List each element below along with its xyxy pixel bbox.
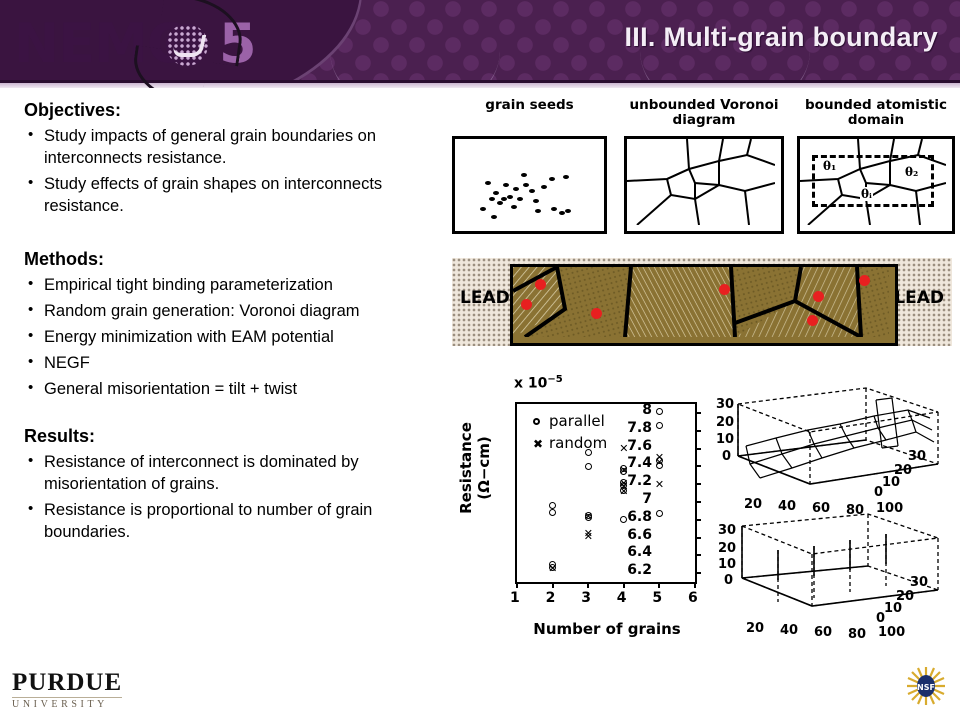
x-tick-60: 60: [814, 625, 832, 640]
x-tick: [658, 582, 660, 588]
y-tick: [695, 465, 701, 467]
purdue-university-text: UNIVERSITY: [12, 697, 122, 710]
nemo5-logo: NEMO 5: [14, 10, 284, 78]
spacer: [24, 404, 449, 426]
y-tick: [695, 572, 701, 574]
objectives-list: Study impacts of general grain boundarie…: [24, 125, 449, 217]
list-item: Resistance of interconnect is dominated …: [24, 451, 449, 495]
surface-plot-3d: 30 20 10 0 20 40 60 80 100 30 20 10 0: [716, 386, 956, 514]
y-axis-label: Resistance (Ω−cm): [457, 393, 493, 543]
grain-seed-point: [535, 209, 541, 213]
list-item: Resistance is proportional to number of …: [24, 499, 449, 543]
nsf-logo: NSF: [906, 666, 946, 706]
grain-seed-point: [503, 183, 509, 187]
plot-area: ✕✕✕✕✕✕✕✕✕✕✕✕parallel✖random: [515, 402, 697, 584]
y-tick-label: 6.8: [627, 511, 652, 523]
x-tick: [516, 582, 518, 588]
spacer: [24, 221, 449, 249]
z-tick-30: 30: [716, 397, 734, 412]
y-tick-label: 6.6: [627, 529, 652, 541]
y-tick-label: 6.4: [627, 546, 652, 558]
list-item: NEGF: [24, 352, 449, 374]
grain-seed-point: [489, 197, 495, 201]
panel-caption: unbounded Voronoi diagram: [624, 98, 784, 128]
grain-seed-point: [521, 173, 527, 177]
grain-seed-point: [523, 183, 529, 187]
purdue-logo: PURDUE UNIVERSITY: [12, 670, 122, 710]
legend-entry-random: ✖random: [533, 434, 607, 452]
slide-footer: PURDUE UNIVERSITY NSF: [0, 660, 960, 720]
resistance-scatter-chart: x 10−5 Resistance (Ω−cm) ✕✕✕✕✕✕✕✕✕✕✕✕par…: [452, 372, 720, 650]
x-tick-label: 5: [652, 590, 662, 606]
data-point-parallel: [549, 502, 556, 509]
voronoi-panel-group: grain seeds unbounded Voronoi diagram: [452, 98, 952, 243]
purdue-wordmark: PURDUE: [12, 670, 122, 696]
x-tick-20: 20: [744, 497, 762, 512]
y-tick: [695, 483, 701, 485]
grain-boundary-svg: [513, 267, 889, 337]
slide-header: NEMO 5 III. Multi-grain boundary: [0, 0, 960, 88]
x-tick-80: 80: [848, 627, 866, 640]
x-tick-label: 1: [510, 590, 520, 606]
y-tick: [695, 448, 701, 450]
x-tick-label: 6: [688, 590, 698, 606]
grain-seed-dot: [719, 284, 730, 295]
grain-seed-point: [507, 195, 513, 199]
grain-seed-dot: [535, 279, 546, 290]
z-tick-10: 10: [716, 432, 734, 447]
x-tick: [694, 582, 696, 588]
grain-seed-point: [559, 211, 565, 215]
z-tick-0: 0: [722, 449, 731, 464]
grain-seed-point: [513, 187, 519, 191]
interconnect-grain-strip: LEAD LEAD: [452, 258, 952, 346]
legend-marker-circle-icon: [533, 418, 540, 425]
x-tick-40: 40: [780, 623, 798, 638]
objectives-heading: Objectives:: [24, 100, 449, 121]
panel-caption: bounded atomistic domain: [797, 98, 955, 128]
nemo-atom-icon: [166, 24, 208, 66]
results-section: Results: Resistance of interconnect is d…: [24, 426, 449, 543]
grain-seed-dot: [521, 299, 532, 310]
y-tick-label: 7.2: [627, 475, 652, 487]
data-point-random: ✕: [655, 480, 664, 489]
grain-seed-dot: [807, 315, 818, 326]
x-tick-label: 2: [546, 590, 556, 606]
panel-caption: grain seeds: [452, 98, 607, 113]
x-tick-20: 20: [746, 621, 764, 636]
y-tick-label: 7: [642, 493, 652, 505]
lead-label-left: LEAD: [460, 288, 510, 308]
grain-seed-point: [529, 189, 535, 193]
y-tick-label: 7.4: [627, 457, 652, 469]
grain-seed-point: [480, 207, 486, 211]
grain-seed-point: [517, 197, 523, 201]
z-tick-20: 20: [716, 415, 734, 430]
wireframe-plot-svg: 30 20 10 0 20 40 60 80 100 30 20 10 0: [716, 512, 956, 640]
y-tick-label: 6.2: [627, 564, 652, 576]
unbounded-voronoi-figure: [624, 136, 784, 234]
x-tick: [552, 582, 554, 588]
grain-seed-point: [485, 181, 491, 185]
grain-seeds-figure: [452, 136, 607, 234]
y-tick: [695, 537, 701, 539]
z-tick-30: 30: [718, 523, 736, 538]
data-point-parallel: [656, 422, 663, 429]
y-tick: [695, 519, 701, 521]
list-item: Study impacts of general grain boundarie…: [24, 125, 449, 169]
legend-marker-cross-icon: ✖: [533, 437, 540, 451]
exponent-mantissa: x 10: [514, 376, 547, 392]
grain-seed-point: [541, 185, 547, 189]
grain-seed-point: [549, 177, 555, 181]
theta-label-2: θ₂: [904, 165, 919, 179]
theta-label-i: θᵢ: [860, 187, 873, 201]
data-point-parallel: [656, 408, 663, 415]
y-tick-30: 30: [908, 449, 926, 464]
grain-seed-dot: [591, 308, 602, 319]
panel-unbounded-voronoi: unbounded Voronoi diagram: [624, 98, 784, 128]
grain-seed-point: [563, 175, 569, 179]
x-axis-label: Number of grains: [502, 620, 712, 638]
wireframe-plot-3d: 30 20 10 0 20 40 60 80 100 30 20 10 0: [716, 512, 956, 640]
y-tick-10: 10: [884, 601, 902, 616]
axis-exponent-label: x 10−5: [514, 374, 563, 392]
content-left-column: Objectives: Study impacts of general gra…: [24, 100, 449, 547]
grain-seed-point: [565, 209, 571, 213]
grain-domain: [510, 264, 898, 346]
grain-seed-point: [501, 197, 507, 201]
y-tick: [695, 430, 701, 432]
y-tick-30: 30: [910, 575, 928, 590]
data-point-random: ✕: [584, 532, 593, 541]
page-title: III. Multi-grain boundary: [625, 22, 939, 53]
theta-label-1: θ₁: [822, 159, 837, 173]
y-tick-10: 10: [882, 475, 900, 490]
x-tick: [587, 582, 589, 588]
grain-seed-point: [551, 207, 557, 211]
y-tick-label: 7.6: [627, 440, 652, 452]
legend-label: parallel: [549, 412, 605, 430]
x-tick: [623, 582, 625, 588]
data-point-random: ✕: [548, 564, 557, 573]
z-tick-0: 0: [724, 573, 733, 588]
methods-list: Empirical tight binding parameterization…: [24, 274, 449, 400]
legend-label: random: [549, 434, 607, 452]
data-point-parallel: [585, 463, 592, 470]
nsf-seal-icon: NSF: [906, 666, 946, 706]
y-tick: [695, 554, 701, 556]
methods-section: Methods: Empirical tight binding paramet…: [24, 249, 449, 400]
list-item: Random grain generation: Voronoi diagram: [24, 300, 449, 322]
data-point-parallel: [656, 510, 663, 517]
x-tick-label: 3: [581, 590, 591, 606]
grain-seed-point: [491, 215, 497, 219]
y-tick-label: 8: [642, 404, 652, 416]
grain-seed-dot: [859, 275, 870, 286]
legend-entry-parallel: parallel: [533, 412, 605, 430]
y-tick-label: 7.8: [627, 422, 652, 434]
results-list: Resistance of interconnect is dominated …: [24, 451, 449, 543]
grain-seed-point: [511, 205, 517, 209]
list-item: General misorientation = tilt + twist: [24, 378, 449, 400]
list-item: Energy minimization with EAM potential: [24, 326, 449, 348]
panel-grain-seeds: grain seeds: [452, 98, 607, 113]
z-tick-10: 10: [718, 557, 736, 572]
results-heading: Results:: [24, 426, 449, 447]
x-tick-100: 100: [878, 625, 905, 640]
exponent-power: −5: [547, 374, 562, 385]
methods-heading: Methods:: [24, 249, 449, 270]
grain-seed-point: [497, 201, 503, 205]
data-point-parallel: [549, 509, 556, 516]
x-tick-label: 4: [617, 590, 627, 606]
lead-label-right: LEAD: [894, 288, 944, 308]
voronoi-svg: [627, 139, 775, 225]
surface-plot-svg: 30 20 10 0 20 40 60 80 100 30 20 10 0: [716, 386, 956, 514]
y-tick-0: 0: [876, 611, 885, 626]
grain-seed-point: [493, 191, 499, 195]
panel-bounded-domain: bounded atomistic domain θ₁: [797, 98, 955, 128]
grain-seed-point: [533, 199, 539, 203]
data-point-random: ✕: [584, 512, 593, 521]
y-tick: [695, 501, 701, 503]
grain-seed-dot: [813, 291, 824, 302]
y-tick: [695, 412, 701, 414]
objectives-section: Objectives: Study impacts of general gra…: [24, 100, 449, 217]
bounded-domain-figure: θ₁ θ₂ θᵢ: [797, 136, 955, 234]
y-tick-0: 0: [874, 485, 883, 500]
nsf-text: NSF: [917, 683, 935, 692]
list-item: Study effects of grain shapes on interco…: [24, 173, 449, 217]
data-point-random: ✕: [655, 458, 664, 467]
z-tick-20: 20: [718, 541, 736, 556]
list-item: Empirical tight binding parameterization: [24, 274, 449, 296]
